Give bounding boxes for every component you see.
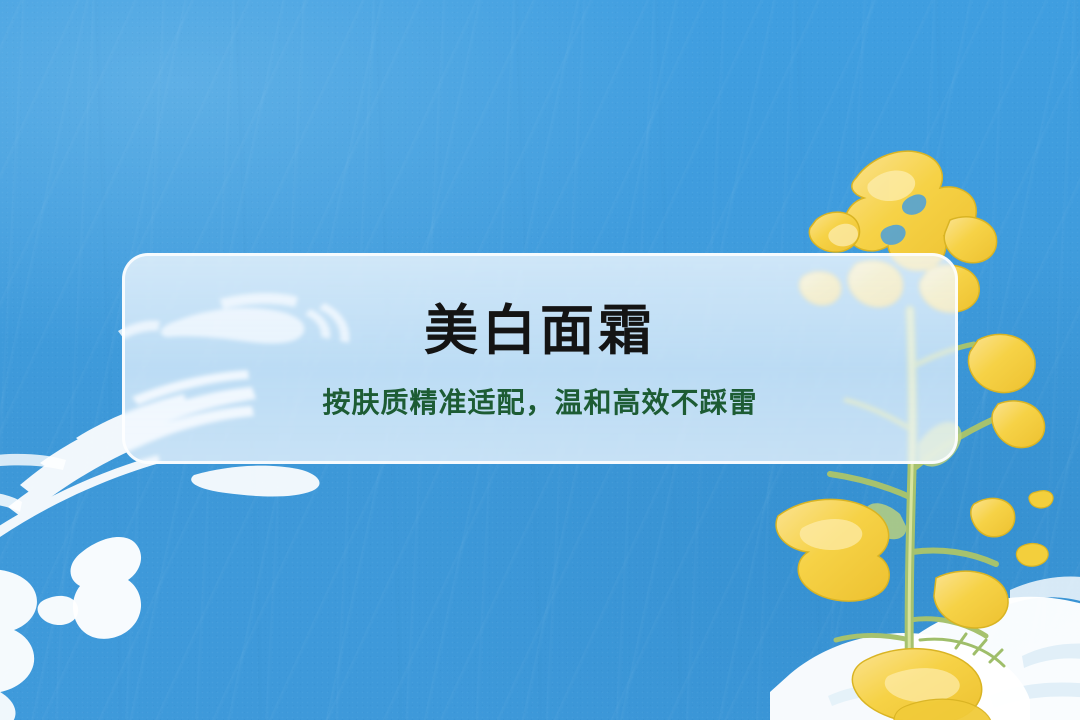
headline-card: 美白面霜 按肤质精准适配，温和高效不踩雷 — [122, 253, 958, 464]
page-subtitle: 按肤质精准适配，温和高效不踩雷 — [125, 389, 955, 417]
page-title: 美白面霜 — [125, 301, 955, 357]
poster-canvas: 美白面霜 按肤质精准适配，温和高效不踩雷 — [0, 0, 1080, 720]
card-text-block: 美白面霜 按肤质精准适配，温和高效不踩雷 — [125, 301, 955, 417]
